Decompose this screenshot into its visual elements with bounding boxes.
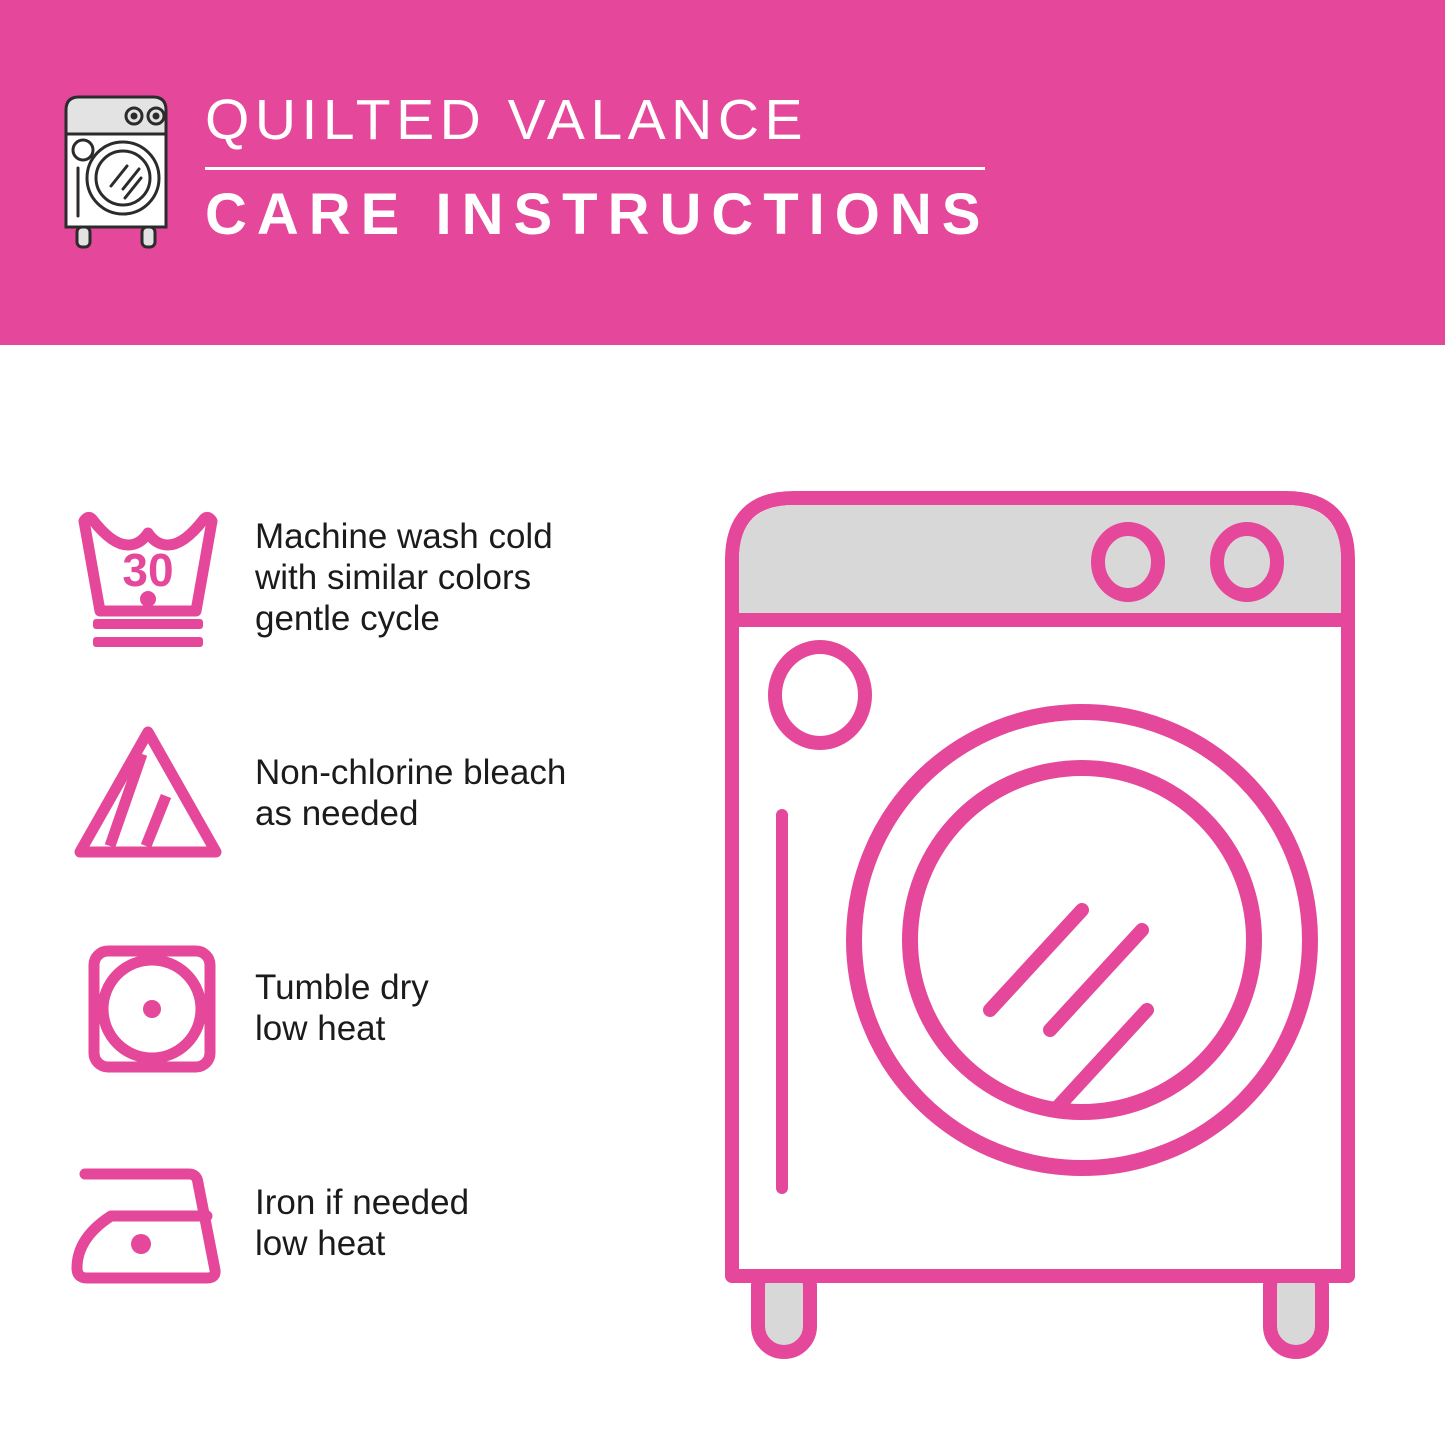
care-text-tumble-dry: Tumble dry low heat [255,967,429,1049]
machine-knob-right[interactable] [1217,529,1277,595]
machine-dial[interactable] [775,647,865,743]
care-symbol-slot [60,933,235,1083]
machine-door-inner[interactable] [910,768,1254,1112]
dryer-heat-dot-icon [143,1000,161,1018]
washing-machine-illustration [710,470,1410,1370]
page-subtitle: CARE INSTRUCTIONS [205,186,990,244]
page-title: QUILTED VALANCE [205,92,990,149]
wash-temperature-label: 30 [122,544,173,596]
care-instructions-list: 30 Machine wash cold with similar colors… [60,470,680,1330]
bleach-triangle-icon [68,718,228,868]
care-row-bleach: Non-chlorine bleach as needed [60,685,680,900]
care-symbol-slot [60,1148,235,1298]
care-symbol-slot [60,718,235,868]
care-row-tumble-dry: Tumble dry low heat [60,900,680,1115]
header-content: QUILTED VALANCE CARE INSTRUCTIONS [55,88,990,253]
header-divider [205,167,985,170]
care-symbol-slot: 30 [60,503,235,653]
tumble-dry-icon [68,933,228,1083]
care-row-machine-wash: 30 Machine wash cold with similar colors… [60,470,680,685]
header-band: QUILTED VALANCE CARE INSTRUCTIONS [0,0,1445,345]
care-text-bleach: Non-chlorine bleach as needed [255,752,566,834]
wash-dot-icon [140,591,156,607]
header-text-block: QUILTED VALANCE CARE INSTRUCTIONS [205,88,990,244]
iron-icon [63,1148,233,1298]
iron-heat-dot-icon [131,1234,151,1254]
care-text-machine-wash: Machine wash cold with similar colors ge… [255,516,553,639]
care-row-iron: Iron if needed low heat [60,1115,680,1330]
wash-basin-icon: 30 [68,503,228,653]
care-text-iron: Iron if needed low heat [255,1182,469,1264]
machine-knob-left[interactable] [1098,529,1158,595]
washing-machine-icon [55,88,177,253]
